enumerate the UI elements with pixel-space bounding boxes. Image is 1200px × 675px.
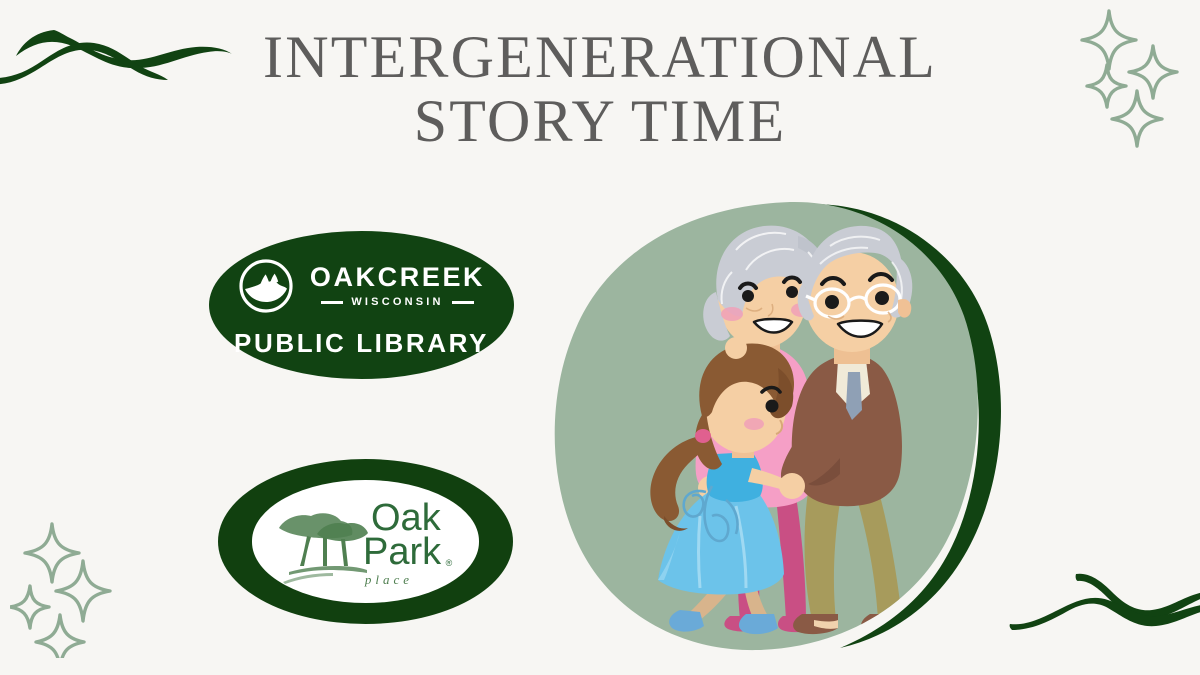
oak-park-place-logo[interactable]: Oak Park ® place: [218, 459, 513, 624]
title-line-2: STORY TIME: [0, 90, 1200, 154]
oakcreek-wordmark: OAKCREEK WISCONSIN: [310, 264, 485, 308]
oakcreek-logo-top-row: OAKCREEK WISCONSIN: [238, 258, 485, 314]
poster-title: INTERGENERATIONAL STORY TIME: [0, 26, 1200, 153]
oakcreek-state: WISCONSIN: [351, 297, 443, 308]
state-rule-right: [452, 301, 474, 304]
oak-tree-icon: [279, 513, 368, 584]
oakpark-inner: Oak Park ® place: [252, 480, 479, 602]
sparkle-cluster-bottom-left: [10, 498, 140, 663]
wave-bottom-right-decoration: [1008, 560, 1200, 655]
illustration-grandparents-granddaughter: [540, 196, 1020, 658]
oakpark-artwork: Oak Park ® place: [271, 494, 461, 590]
oakpark-line-3: place: [363, 572, 412, 587]
oakpark-line-2: Park: [363, 531, 442, 573]
oakpark-trademark: ®: [445, 558, 452, 568]
oakcreek-public-library-logo[interactable]: OAKCREEK WISCONSIN PUBLIC LIBRARY: [209, 231, 514, 379]
oakcreek-name: OAKCREEK: [310, 264, 485, 291]
lake-trees-circle-icon: [238, 258, 294, 314]
poster-canvas: INTERGENERATIONAL STORY TIME OAKCREEK WI…: [0, 0, 1200, 675]
oakcreek-state-row: WISCONSIN: [310, 297, 485, 308]
state-rule-left: [321, 301, 343, 304]
oakcreek-subtitle: PUBLIC LIBRARY: [234, 330, 489, 356]
title-line-1: INTERGENERATIONAL: [0, 26, 1200, 90]
